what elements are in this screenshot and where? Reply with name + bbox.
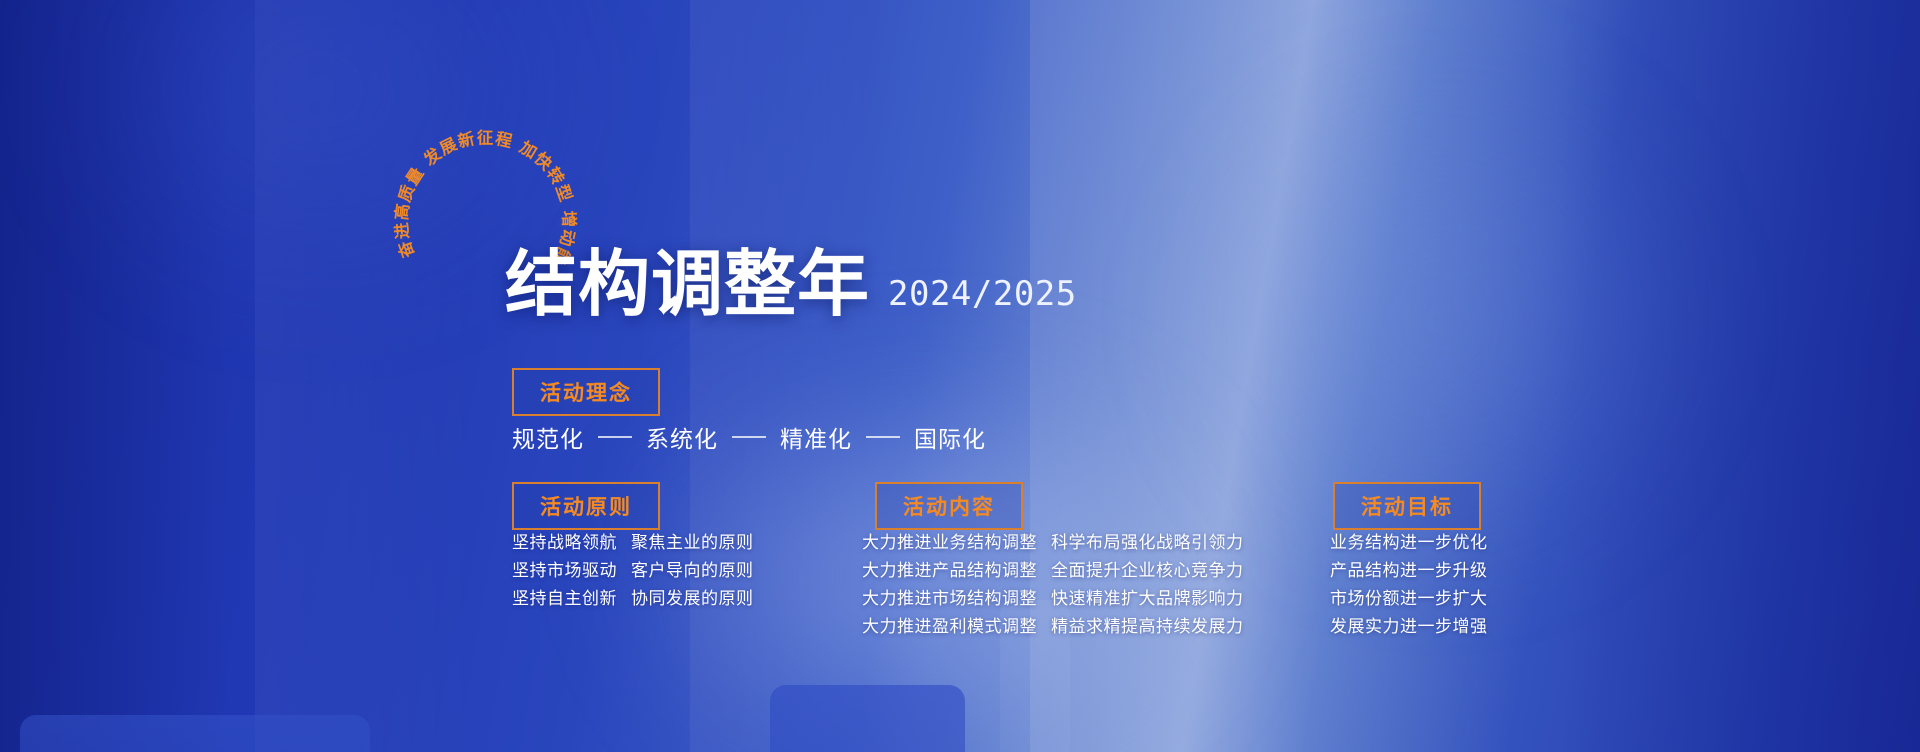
concept-separator bbox=[598, 436, 632, 438]
concept-keyword: 系统化 bbox=[646, 420, 718, 454]
background-band-right bbox=[1560, 0, 1920, 752]
list-item: 坚持市场驱动客户导向的原则 bbox=[512, 563, 754, 580]
promo-banner: 奋进高质量 发展新征程 加快转型 增动能 结构调整年 2024/2025 活动理… bbox=[0, 0, 1920, 752]
badge-activity-goal[interactable]: 活动目标 bbox=[1333, 482, 1481, 530]
list-item: 产品结构进一步升级 bbox=[1330, 563, 1488, 580]
list-item-secondary: 协同发展的原则 bbox=[631, 591, 754, 608]
badge-activity-concept[interactable]: 活动理念 bbox=[512, 368, 660, 416]
list-item-secondary: 科学布局强化战略引领力 bbox=[1051, 535, 1244, 552]
list-item-primary: 产品结构进一步升级 bbox=[1330, 563, 1488, 580]
decor-rect-3 bbox=[770, 685, 965, 752]
list-item-primary: 大力推进盈利模式调整 bbox=[862, 619, 1037, 636]
list-item: 发展实力进一步增强 bbox=[1330, 619, 1488, 636]
list-item: 大力推进业务结构调整科学布局强化战略引领力 bbox=[862, 535, 1244, 552]
list-item: 市场份额进一步扩大 bbox=[1330, 591, 1488, 608]
list-item-secondary: 客户导向的原则 bbox=[631, 563, 754, 580]
title-year: 2024/2025 bbox=[888, 274, 1077, 320]
list-item-primary: 发展实力进一步增强 bbox=[1330, 619, 1488, 636]
list-item: 坚持战略领航聚焦主业的原则 bbox=[512, 535, 754, 552]
list-item-secondary: 聚焦主业的原则 bbox=[631, 535, 754, 552]
concept-separator bbox=[732, 436, 766, 438]
badge-activity-principle[interactable]: 活动原则 bbox=[512, 482, 660, 530]
badge-activity-principle-label: 活动原则 bbox=[540, 491, 632, 521]
list-item: 大力推进盈利模式调整精益求精提高持续发展力 bbox=[862, 619, 1244, 636]
badge-activity-goal-label: 活动目标 bbox=[1361, 491, 1453, 521]
list-item-primary: 坚持自主创新 bbox=[512, 591, 617, 608]
list-item: 大力推进产品结构调整全面提升企业核心竞争力 bbox=[862, 563, 1244, 580]
background-band-2 bbox=[255, 0, 475, 752]
background-band-left bbox=[0, 0, 230, 752]
column-activity-content: 大力推进业务结构调整科学布局强化战略引领力大力推进产品结构调整全面提升企业核心竞… bbox=[862, 535, 1244, 647]
list-item-primary: 大力推进业务结构调整 bbox=[862, 535, 1037, 552]
list-item-primary: 业务结构进一步优化 bbox=[1330, 535, 1488, 552]
column-activity-principle: 坚持战略领航聚焦主业的原则坚持市场驱动客户导向的原则坚持自主创新协同发展的原则 bbox=[512, 535, 754, 619]
concept-keyword-line: 规范化系统化精准化国际化 bbox=[512, 420, 986, 454]
list-item: 大力推进市场结构调整快速精准扩大品牌影响力 bbox=[862, 591, 1244, 608]
badge-activity-content[interactable]: 活动内容 bbox=[875, 482, 1023, 530]
list-item: 坚持自主创新协同发展的原则 bbox=[512, 591, 754, 608]
page-title: 结构调整年 bbox=[505, 248, 870, 320]
concept-keyword: 精准化 bbox=[780, 420, 852, 454]
background-band-3 bbox=[690, 0, 870, 752]
title-row: 结构调整年 2024/2025 bbox=[505, 248, 1077, 320]
badge-activity-content-label: 活动内容 bbox=[903, 491, 995, 521]
list-item-primary: 大力推进产品结构调整 bbox=[862, 563, 1037, 580]
badge-activity-concept-label: 活动理念 bbox=[540, 377, 632, 407]
list-item-secondary: 全面提升企业核心竞争力 bbox=[1051, 563, 1244, 580]
list-item-primary: 市场份额进一步扩大 bbox=[1330, 591, 1488, 608]
concept-keyword: 国际化 bbox=[914, 420, 986, 454]
concept-keyword: 规范化 bbox=[512, 420, 584, 454]
decor-rect-1 bbox=[20, 715, 370, 752]
column-activity-goal: 业务结构进一步优化产品结构进一步升级市场份额进一步扩大发展实力进一步增强 bbox=[1330, 535, 1488, 647]
list-item: 业务结构进一步优化 bbox=[1330, 535, 1488, 552]
concept-separator bbox=[866, 436, 900, 438]
list-item-secondary: 精益求精提高持续发展力 bbox=[1051, 619, 1244, 636]
list-item-primary: 坚持战略领航 bbox=[512, 535, 617, 552]
list-item-primary: 大力推进市场结构调整 bbox=[862, 591, 1037, 608]
list-item-primary: 坚持市场驱动 bbox=[512, 563, 617, 580]
list-item-secondary: 快速精准扩大品牌影响力 bbox=[1051, 591, 1244, 608]
